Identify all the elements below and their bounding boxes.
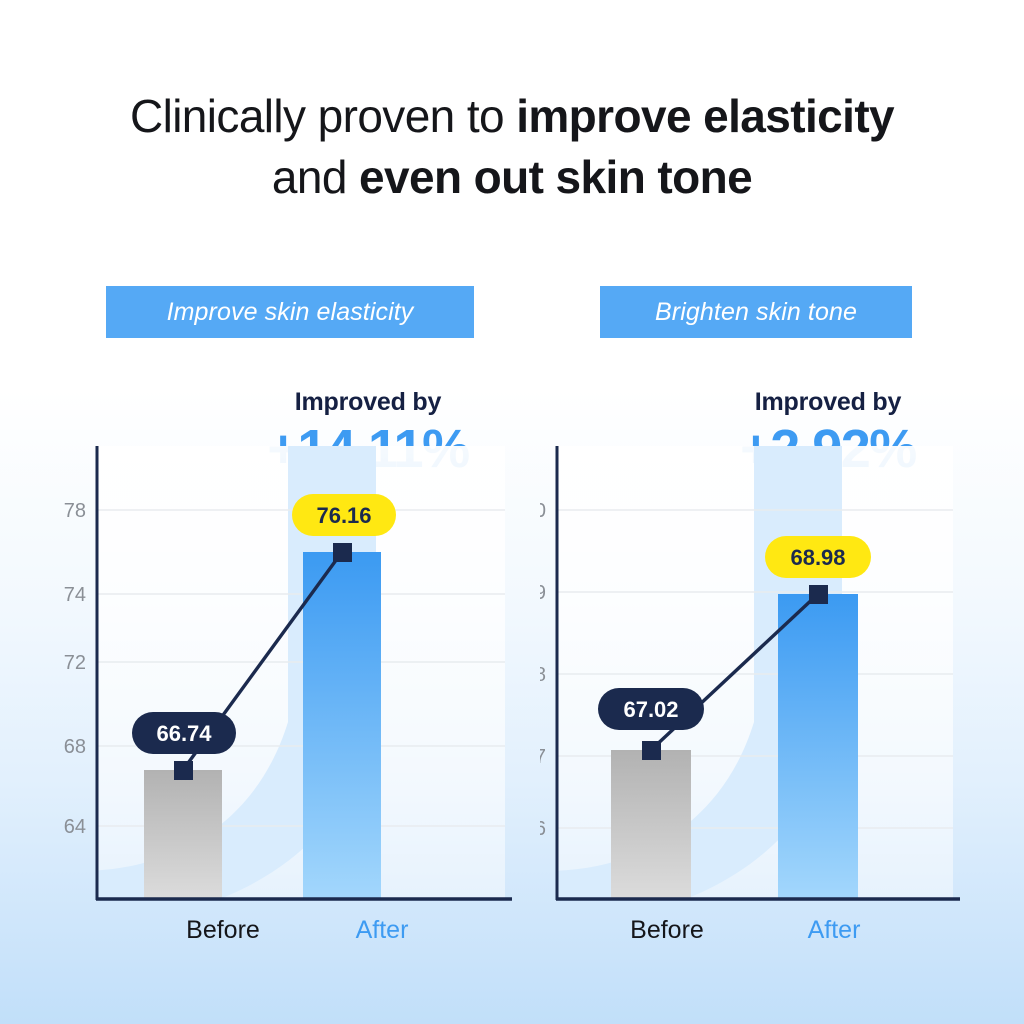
x-label-after: After	[302, 916, 462, 945]
data-point-marker-before	[642, 741, 661, 760]
bar-after	[303, 552, 381, 900]
bar-before	[611, 750, 691, 900]
panel-tag-skin-tone: Brighten skin tone	[600, 286, 912, 338]
page-title: Clinically proven to improve elasticity …	[0, 86, 1024, 207]
value-badge-before: 66.74	[132, 712, 236, 754]
improved-by-label: Improved by	[668, 390, 988, 415]
y-axis-tick-labels: 78 74 72 68 64	[64, 500, 86, 838]
headline-line-2-plain: and	[272, 151, 359, 203]
y-tick-label: 78	[64, 500, 86, 522]
headline-line-2: and even out skin tone	[0, 147, 1024, 208]
value-badge-before-text: 66.74	[156, 721, 212, 746]
headline-line-1-bold: improve elasticity	[516, 90, 894, 142]
y-tick-label: 72	[64, 652, 86, 674]
data-point-marker-after	[809, 585, 828, 604]
value-badge-after: 68.98	[765, 536, 871, 578]
chart-elasticity: 78 74 72 68 64 66.	[60, 446, 520, 946]
data-point-marker-after	[333, 543, 352, 562]
y-tick-label: 67	[540, 746, 546, 768]
value-badge-after-text: 68.98	[790, 545, 845, 570]
bar-after	[778, 594, 858, 900]
x-label-before: Before	[143, 916, 303, 945]
headline-line-1-plain: Clinically proven to	[130, 90, 516, 142]
headline-line-2-bold: even out skin tone	[359, 151, 752, 203]
value-badge-before-text: 67.02	[623, 697, 678, 722]
panel-tag-elasticity: Improve skin elasticity	[106, 286, 474, 338]
x-label-after: After	[754, 916, 914, 945]
chart-skin-tone: 70 69 68 67 66 67.02	[540, 446, 980, 946]
y-tick-label: 69	[540, 582, 546, 604]
headline-line-1: Clinically proven to improve elasticity	[0, 86, 1024, 147]
y-tick-label: 68	[540, 664, 546, 686]
value-badge-after: 76.16	[292, 494, 396, 536]
y-tick-label: 66	[540, 818, 546, 840]
x-axis-labels-skin-tone: Before After	[556, 916, 980, 950]
y-axis-tick-labels: 70 69 68 67 66	[540, 500, 546, 840]
value-badge-after-text: 76.16	[316, 503, 371, 528]
improved-by-label: Improved by	[208, 390, 528, 415]
value-badge-before: 67.02	[598, 688, 704, 730]
bar-before	[144, 770, 222, 900]
y-tick-label: 70	[540, 500, 546, 522]
y-tick-label: 74	[64, 584, 86, 606]
infographic-page: Clinically proven to improve elasticity …	[0, 0, 1024, 1024]
x-label-before: Before	[587, 916, 747, 945]
y-tick-label: 68	[64, 736, 86, 758]
x-axis-labels-elasticity: Before After	[96, 916, 520, 950]
y-tick-label: 64	[64, 816, 86, 838]
data-point-marker-before	[174, 761, 193, 780]
